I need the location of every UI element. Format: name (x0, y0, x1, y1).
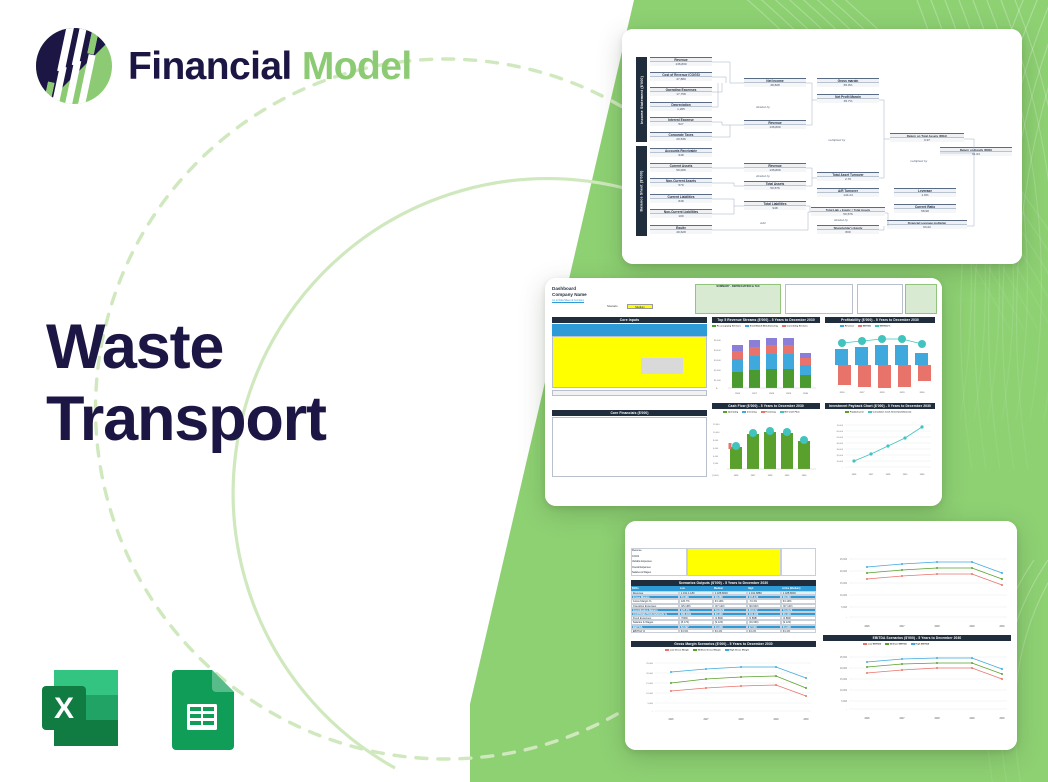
brand-logo: Financial Model (34, 26, 412, 106)
svg-text:$2,000: $2,000 (714, 370, 721, 372)
svg-text:2030: 2030 (999, 718, 1005, 720)
svg-text:10,000: 10,000 (713, 432, 720, 434)
ebitda-scenarios-chart: 25,00020,00015,000 10,0005,000- 20262027… (823, 649, 1011, 727)
svg-text:$4,000: $4,000 (714, 350, 721, 352)
svg-text:$-: $- (716, 388, 718, 390)
scenarios-sheet: Revenue COGS Variable Expenses Overall E… (625, 521, 1017, 750)
svg-text:X: X (54, 692, 74, 725)
key-assumptions-panel (785, 284, 853, 314)
dashboard-subtitle: Company Name (552, 292, 587, 297)
brand-wordmark-primary: Financial (128, 45, 292, 88)
summary-panel: SUMMARY - DEPRECIATION & TAX (695, 284, 781, 314)
svg-text:2,000: 2,000 (713, 463, 719, 465)
cash-flow-title: Cash Flow ($'000) - 5 Years to December … (712, 403, 820, 409)
investment-payback-title: Investment Payback Chart ($'000) - 5 Yea… (825, 403, 935, 409)
svg-text:30,000: 30,000 (837, 449, 844, 451)
top5-revenue-streams-chart: $5,000$4,000$3,000 $2,000$1,000$- 2026 2… (712, 331, 820, 399)
svg-text:-: - (846, 709, 847, 711)
svg-text:20,000: 20,000 (840, 668, 848, 670)
svg-text:2026: 2026 (668, 719, 674, 721)
svg-text:12,000: 12,000 (713, 424, 720, 426)
microsoft-excel-icon: X (34, 662, 126, 754)
input-table-greyed-cells (641, 358, 683, 374)
dashboard-title: Dashboard (552, 286, 576, 291)
google-sheets-icon (156, 662, 248, 754)
scenarios-card[interactable]: Revenue COGS Variable Expenses Overall E… (625, 521, 1017, 750)
svg-text:5,000: 5,000 (841, 701, 847, 703)
svg-text:2028: 2028 (934, 626, 940, 628)
svg-text:6,000: 6,000 (713, 448, 719, 450)
brand-wordmark-secondary: Model (302, 45, 412, 88)
left-content-panel: Financial Model Waste Transport X (0, 0, 470, 782)
svg-text:2027: 2027 (703, 719, 709, 721)
table-cell: 63.4% (781, 629, 816, 633)
svg-text:-: - (652, 711, 653, 713)
svg-text:2029: 2029 (773, 719, 779, 721)
page-title-line-2: Transport (46, 384, 446, 456)
core-inputs-header: Core Inputs (552, 317, 707, 323)
svg-text:15,000: 15,000 (840, 679, 848, 681)
svg-text:2026: 2026 (864, 718, 870, 720)
svg-text:2029: 2029 (786, 393, 792, 395)
svg-text:15,000: 15,000 (840, 583, 848, 585)
circle-bar-chart-logo-icon (34, 26, 114, 106)
investment-payback-legend: Payback year Cumulative Cash Generated (… (845, 411, 911, 413)
profitability-title: Profitability ($'000) - 5 Years to Decem… (825, 317, 935, 323)
dashboard-card[interactable]: Dashboard Company Name Go to Data Sheet … (545, 278, 942, 506)
scenario-selector[interactable]: Medium (627, 304, 653, 309)
scenario-label: Scenario (607, 305, 618, 308)
svg-text:2030: 2030 (803, 719, 809, 721)
svg-text:2028: 2028 (768, 475, 773, 477)
svg-text:2028: 2028 (886, 474, 891, 476)
page-title: Waste Transport (46, 312, 446, 456)
page-title-line-1: Waste (46, 312, 446, 384)
svg-text:8,000: 8,000 (713, 440, 719, 442)
scenario-assumptions-table[interactable]: Revenue COGS Variable Expenses Overall E… (631, 548, 816, 576)
working-capital-panel (857, 284, 903, 314)
svg-text:2027: 2027 (899, 718, 905, 720)
table-cell: EBITDA % (631, 629, 679, 633)
svg-text:2028: 2028 (880, 392, 886, 394)
svg-text:2027: 2027 (869, 474, 874, 476)
svg-text:5,000: 5,000 (841, 607, 847, 609)
svg-text:60,000: 60,000 (837, 431, 844, 433)
svg-text:2029: 2029 (969, 626, 975, 628)
svg-text:2029: 2029 (969, 718, 975, 720)
input-table-body[interactable] (552, 336, 707, 388)
profitability-chart: 2026 2027 2028 2029 2030 (825, 331, 935, 399)
svg-text:20,000: 20,000 (646, 673, 653, 675)
slide-canvas: Financial Model Waste Transport X (0, 0, 1048, 782)
ebitda-scenarios-title: EBITDA Scenarios ($'000) - 5 Years to De… (823, 635, 1011, 641)
svg-text:-: - (842, 467, 843, 469)
dupont-analysis-card[interactable]: Income Statement ($'000) Balance Sheet (… (622, 29, 1022, 264)
svg-text:10,000: 10,000 (646, 693, 653, 695)
assumption-row-salaries: Salaries & Wages (631, 570, 816, 576)
svg-text:2029: 2029 (785, 475, 790, 477)
svg-text:10,000: 10,000 (840, 595, 848, 597)
svg-text:$1,000: $1,000 (714, 380, 721, 382)
svg-text:25,000: 25,000 (646, 663, 653, 665)
svg-text:20,000: 20,000 (837, 455, 844, 457)
svg-text:2027: 2027 (899, 626, 905, 628)
svg-text:2026: 2026 (864, 626, 870, 628)
svg-text:10,000: 10,000 (837, 461, 844, 463)
cash-flow-legend: Operating Investing Financing Net Cash F… (723, 411, 800, 413)
svg-text:2029: 2029 (900, 392, 906, 394)
svg-text:2026: 2026 (852, 474, 857, 476)
svg-text:2026: 2026 (734, 475, 739, 477)
svg-text:4,000: 4,000 (713, 456, 719, 458)
app-compatibility-icons: X (34, 662, 248, 754)
table-row[interactable]: EBITDA %63.9%63.4%63.2%63.4% (631, 629, 816, 633)
gross-margin-scenarios-title: Gross Margin Scenarios ($'000) - 5 Years… (631, 641, 816, 647)
svg-text:-: - (846, 617, 847, 619)
svg-text:2030: 2030 (802, 475, 807, 477)
dashboard-note-link[interactable]: Go to Data Sheet of Company (552, 299, 584, 302)
svg-text:2030: 2030 (920, 474, 925, 476)
top5-revenue-streams-legend: Re-occupying Services Small Batch Manufa… (712, 325, 808, 327)
svg-text:2027: 2027 (751, 475, 756, 477)
brand-wordmark: Financial Model (128, 47, 412, 86)
summary-panel-title: SUMMARY - DEPRECIATION & TAX (696, 285, 780, 289)
dupont-connectors (622, 29, 1022, 264)
input-table-total-row (552, 390, 707, 396)
table-cell: 63.9% (679, 629, 713, 633)
table-cell: 63.4% (713, 629, 747, 633)
svg-text:40,000: 40,000 (837, 443, 844, 445)
core-financials-table (552, 417, 707, 477)
svg-text:20,000: 20,000 (840, 571, 848, 573)
cash-flow-chart: 12,00010,0008,000 6,0004,0002,000 -(2,00… (712, 417, 820, 479)
svg-text:50,000: 50,000 (837, 437, 844, 439)
profitability-legend: Revenue EBITDA EBITDA % (840, 325, 890, 327)
svg-text:15,000: 15,000 (646, 683, 653, 685)
svg-text:2029: 2029 (903, 474, 908, 476)
svg-text:2027: 2027 (860, 392, 866, 394)
top5-revenue-streams-title: Top 5 Revenue Streams ($'000) - 5 Years … (712, 317, 820, 323)
svg-text:25,000: 25,000 (840, 559, 848, 561)
svg-text:$5,000: $5,000 (714, 340, 721, 342)
svg-text:25,000: 25,000 (840, 657, 848, 659)
ebitda-legend: Low EBITDA Medium EBITDA High EBITDA (863, 643, 929, 645)
investment-payback-chart: 70,00060,00050,000 40,00030,00020,000 10… (825, 417, 935, 479)
svg-text:2026: 2026 (735, 393, 741, 395)
svg-text:10,000: 10,000 (840, 690, 848, 692)
svg-text:(2,000): (2,000) (712, 475, 719, 477)
scenario-lines-chart: 25,00020,00015,000 10,0005,000- 20262027… (823, 549, 1011, 637)
svg-text:5,000: 5,000 (648, 703, 654, 705)
svg-text:2026: 2026 (840, 392, 846, 394)
dashboard-sheet: Dashboard Company Name Go to Data Sheet … (545, 278, 942, 506)
gross-margin-legend: Low Gross Margin Medium Gross Margin Hig… (665, 649, 749, 651)
svg-text:2030: 2030 (920, 392, 926, 394)
gross-margin-scenarios-chart: 25,00020,00015,000 10,0005,000- 20262027… (631, 655, 816, 727)
core-financials-header: Core Financials ($'000) (552, 410, 707, 416)
scenarios-table-body[interactable]: Revenue1,191,1,1801,188,86301,191,88801,… (631, 591, 816, 633)
svg-text:2028: 2028 (738, 719, 744, 721)
svg-text:2030: 2030 (803, 393, 809, 395)
svg-text:2027: 2027 (752, 393, 758, 395)
svg-text:2028: 2028 (769, 393, 775, 395)
svg-text:$3,000: $3,000 (714, 360, 721, 362)
table-cell: 63.2% (747, 629, 781, 633)
svg-text:2030: 2030 (999, 626, 1005, 628)
svg-text:-: - (715, 469, 716, 471)
key-outputs-panel (905, 284, 937, 314)
dupont-sheet: Income Statement ($'000) Balance Sheet (… (622, 29, 1022, 264)
svg-text:70,000: 70,000 (837, 425, 844, 427)
svg-text:2028: 2028 (934, 718, 940, 720)
